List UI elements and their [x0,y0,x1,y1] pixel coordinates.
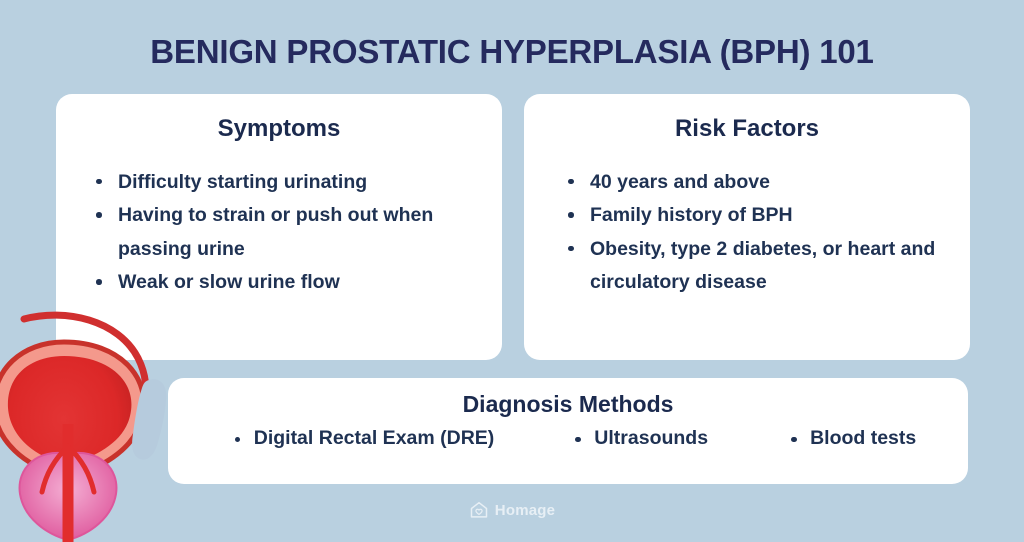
list-item: Blood tests [788,427,916,450]
diagnosis-methods-card: Diagnosis Methods Digital Rectal Exam (D… [168,378,968,484]
symptoms-card: Symptoms Difficulty starting urinating H… [56,94,502,360]
house-heart-icon [469,500,489,520]
prostate [20,453,117,540]
diagnosis-methods-list: Digital Rectal Exam (DRE) Ultrasounds Bl… [168,427,968,450]
list-item: Family history of BPH [564,199,960,233]
list-item: Having to strain or push out when passin… [92,199,488,266]
bladder-wall [0,342,144,510]
bladder-interior [8,356,132,506]
list-item: Obesity, type 2 diabetes, or heart and c… [564,233,960,300]
list-item: Ultrasounds [572,427,708,450]
symptoms-heading: Symptoms [56,94,502,144]
brand-name: Homage [495,502,555,519]
list-item: Weak or slow urine flow [92,266,488,300]
list-item: Difficulty starting urinating [92,166,488,200]
list-item: Digital Rectal Exam (DRE) [232,427,495,450]
risk-factors-list: 40 years and above Family history of BPH… [564,166,970,300]
infographic-poster: BENIGN PROSTATIC HYPERPLASIA (BPH) 101 S… [0,0,1024,536]
risk-factors-card: Risk Factors 40 years and above Family h… [524,94,970,360]
seminal-vesicle [132,379,166,460]
urethra-branch-left [42,446,68,492]
urethra-branch-right [68,446,94,492]
symptoms-list: Difficulty starting urinating Having to … [92,166,502,300]
diagnosis-methods-heading: Diagnosis Methods [168,378,968,419]
page-title: BENIGN PROSTATIC HYPERPLASIA (BPH) 101 [0,32,1024,72]
list-item: 40 years and above [564,166,960,200]
footer-brand: Homage [0,500,1024,520]
risk-factors-heading: Risk Factors [524,94,970,144]
